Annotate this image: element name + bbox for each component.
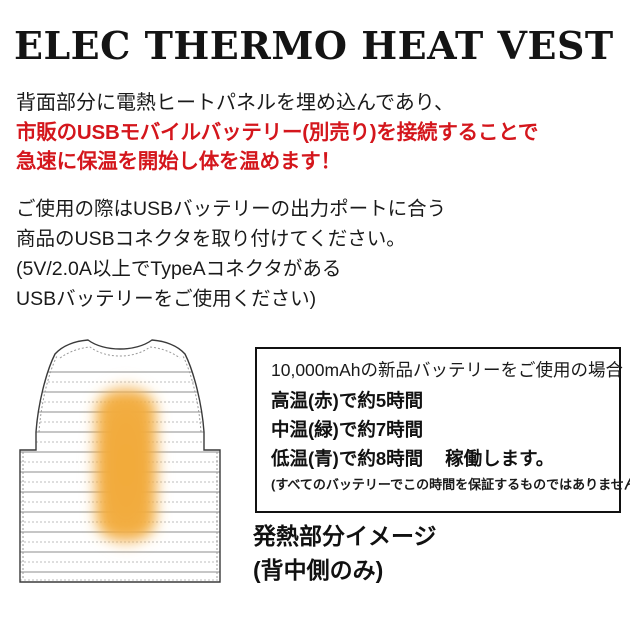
battery-row-low-label: 低温(青)で約8時間 [271,448,423,469]
caption-line-2: (背中側のみ) [253,553,623,587]
battery-row-low: 低温(青)で約8時間稼働します。 [271,444,607,473]
battery-row-low-tail: 稼働します。 [423,448,554,469]
usage-line-3: (5V/2.0A以上でTypeAコネクタがある [16,254,616,284]
battery-disclaimer: (すべてのバッテリーでこの時間を保証するものではありません) [271,474,607,496]
heat-area-caption: 発熱部分イメージ (背中側のみ) [253,519,623,587]
usage-paragraph: ご使用の際はUSBバッテリーの出力ポートに合う 商品のUSBコネクタを取り付けて… [16,194,616,314]
caption-line-1: 発熱部分イメージ [253,519,623,553]
usage-line-1: ご使用の際はUSBバッテリーの出力ポートに合う [16,194,616,224]
battery-row-mid: 中温(緑)で約7時間 [271,415,607,444]
vest-illustration [8,332,244,594]
intro-line-3: 急速に保温を開始し体を温めます！ [16,147,616,176]
battery-row-high: 高温(赤)で約5時間 [271,386,607,415]
intro-line-2: 市販のUSBモバイルバッテリー(別売り)を接続することで [16,118,616,147]
intro-paragraph: 背面部分に電熱ヒートパネルを埋め込んであり、 市販のUSBモバイルバッテリー(別… [16,88,616,176]
usage-line-4: USBバッテリーをご使用ください) [16,284,616,314]
battery-runtime-box: 10,000mAhの新品バッテリーをご使用の場合 高温(赤)で約5時間 中温(緑… [255,347,621,513]
battery-box-heading: 10,000mAhの新品バッテリーをご使用の場合 [271,358,607,383]
usage-line-2: 商品のUSBコネクタを取り付けてください。 [16,224,616,254]
intro-line-1: 背面部分に電熱ヒートパネルを埋め込んであり、 [16,88,616,118]
heat-zone [91,380,161,550]
product-infographic: ELEC THERMO HEAT VEST 背面部分に電熱ヒートパネルを埋め込ん… [0,0,630,630]
battery-row-mid-label: 中温(緑)で約7時間 [271,419,423,440]
battery-row-high-label: 高温(赤)で約5時間 [271,390,423,411]
page-title: ELEC THERMO HEAT VEST [14,24,620,68]
